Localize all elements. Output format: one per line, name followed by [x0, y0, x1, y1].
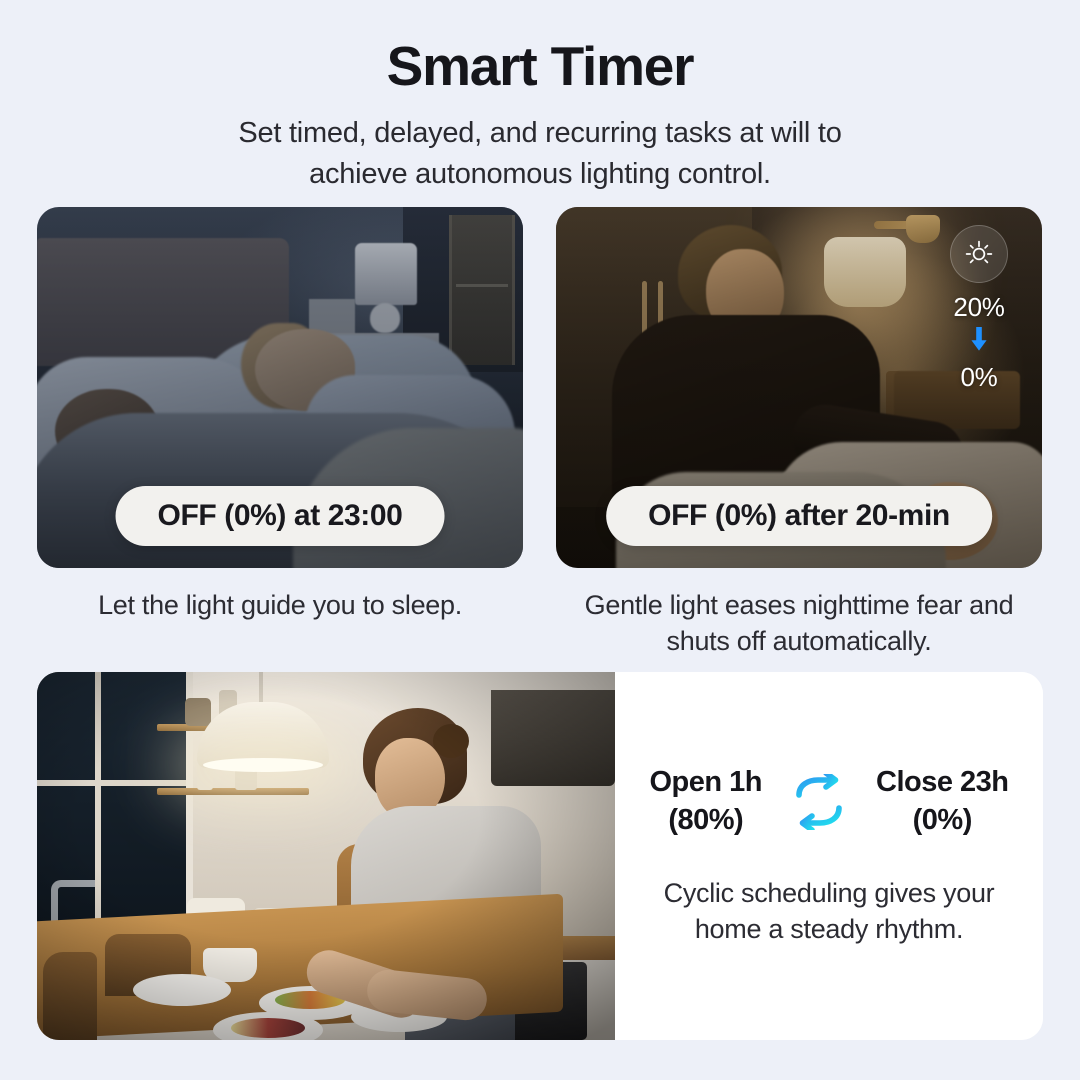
cycle-open-label: Open 1h	[649, 764, 762, 801]
page-title: Smart Timer	[0, 34, 1080, 99]
cyclic-schedule-caption: Cyclic scheduling gives your home a stea…	[664, 875, 995, 948]
delayed-off-caption-line-2: shuts off automatically.	[556, 624, 1042, 660]
cyclic-loop-icon	[788, 774, 850, 830]
delayed-off-badge: OFF (0%) after 20-min	[606, 486, 992, 546]
cyclic-schedule-text-panel: Open 1h (80%)	[615, 672, 1043, 1040]
feature-card-row: OFF (0%) at 23:00 Let the light guide yo…	[37, 207, 1043, 660]
page-subtitle-line-1: Set timed, delayed, and recurring tasks …	[0, 113, 1080, 154]
feature-card-scheduled-off: OFF (0%) at 23:00 Let the light guide yo…	[37, 207, 523, 660]
cycle-open-value: (80%)	[649, 802, 762, 839]
cycle-close-block: Close 23h (0%)	[876, 764, 1009, 838]
cyclic-caption-line-1: Cyclic scheduling gives your	[664, 875, 995, 911]
scheduled-off-caption: Let the light guide you to sleep.	[37, 588, 523, 624]
delayed-off-caption-line-1: Gentle light eases nighttime fear and	[556, 588, 1042, 624]
brightness-widget[interactable]: 20% 0%	[936, 225, 1022, 393]
page-header: Smart Timer Set timed, delayed, and recu…	[0, 0, 1080, 195]
cycle-close-label: Close 23h	[876, 764, 1009, 801]
kitchen-dinner-photo	[37, 672, 615, 1040]
scheduled-off-photo-card[interactable]: OFF (0%) at 23:00	[37, 207, 523, 568]
delayed-off-photo-card[interactable]: 20% 0% OFF (0%) after 20-min	[556, 207, 1042, 568]
feature-card-delayed-off: 20% 0% OFF (0%) after 20-min Gentle ligh…	[556, 207, 1042, 660]
brightness-icon[interactable]	[950, 225, 1008, 283]
cycle-close-value: (0%)	[876, 802, 1009, 839]
cycle-open-block: Open 1h (80%)	[649, 764, 762, 838]
scheduled-off-caption-line-1: Let the light guide you to sleep.	[37, 588, 523, 624]
cyclic-caption-line-2: home a steady rhythm.	[664, 911, 995, 947]
brightness-from-value: 20%	[953, 292, 1004, 323]
page-subtitle-line-2: achieve autonomous lighting control.	[0, 154, 1080, 195]
cycle-summary-row: Open 1h (80%)	[649, 764, 1008, 838]
scheduled-off-badge: OFF (0%) at 23:00	[116, 486, 445, 546]
delayed-off-caption: Gentle light eases nighttime fear and sh…	[556, 588, 1042, 660]
cyclic-schedule-card[interactable]: Open 1h (80%)	[37, 672, 1043, 1040]
brightness-to-value: 0%	[961, 362, 998, 393]
page-subtitle: Set timed, delayed, and recurring tasks …	[0, 113, 1080, 195]
smart-timer-page: Smart Timer Set timed, delayed, and recu…	[0, 0, 1080, 1080]
down-arrow-icon	[967, 326, 991, 352]
